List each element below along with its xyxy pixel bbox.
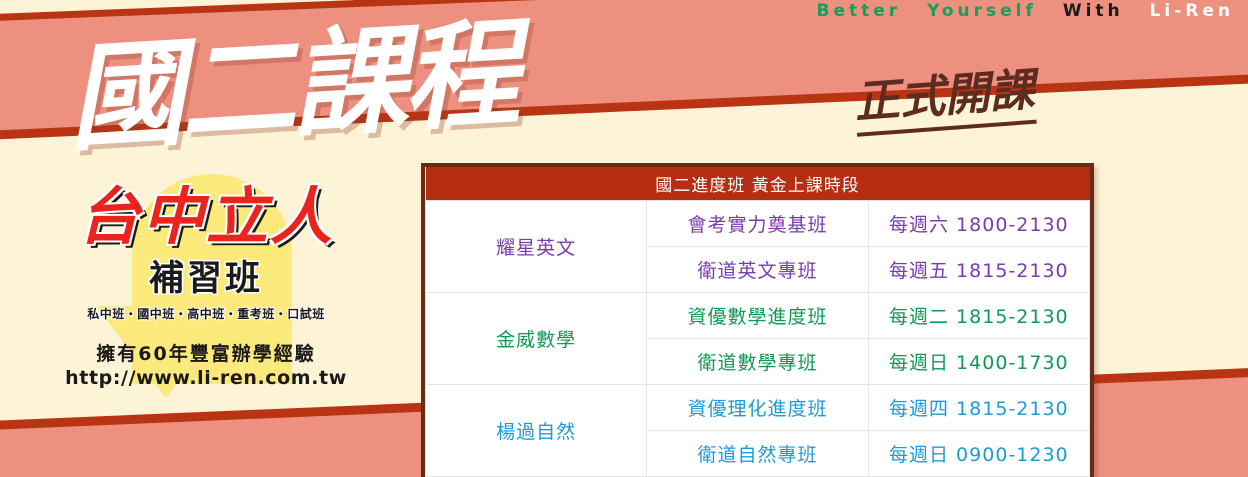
table-row: 金威數學資優數學進度班每週二 1815-2130 (426, 293, 1090, 339)
page-subtitle: 正式開課 (852, 53, 1037, 137)
cell-course-name: 衛道數學專班 (647, 339, 868, 385)
school-logo: 台中立人 補習班 私中班・國中班・高中班・重考班・口試班 擁有60年豐富辦學經驗… (36, 186, 376, 389)
logo-website-url[interactable]: http://www.li-ren.com.tw (36, 367, 376, 389)
schedule-table-body: 耀星英文會考實力奠基班每週六 1800-2130衛道英文專班每週五 1815-2… (426, 201, 1090, 477)
cell-subject: 耀星英文 (426, 201, 647, 293)
table-row: 耀星英文會考實力奠基班每週六 1800-2130 (426, 201, 1090, 247)
cell-class-time: 每週二 1815-2130 (868, 293, 1089, 339)
cell-course-name: 會考實力奠基班 (647, 201, 868, 247)
cell-course-name: 衛道英文專班 (647, 247, 868, 293)
tagline-word-liren: Li-Ren (1150, 1, 1234, 21)
logo-course-list: 私中班・國中班・高中班・重考班・口試班 (36, 305, 376, 322)
cell-course-name: 衛道自然專班 (647, 431, 868, 477)
cell-subject: 金威數學 (426, 293, 647, 385)
table-header-title: 國二進度班 黃金上課時段 (426, 167, 1090, 201)
brand-tagline: Better Yourself With Li-Ren (817, 1, 1234, 21)
tagline-word-with: With (1063, 1, 1124, 21)
schedule-table-container: 國二進度班 黃金上課時段 耀星英文會考實力奠基班每週六 1800-2130衛道英… (421, 163, 1094, 477)
cell-class-time: 每週六 1800-2130 (868, 201, 1089, 247)
table-row: 楊過自然資優理化進度班每週四 1815-2130 (426, 385, 1090, 431)
cell-class-time: 每週五 1815-2130 (868, 247, 1089, 293)
logo-name-sub: 補習班 (36, 250, 376, 301)
schedule-table: 國二進度班 黃金上課時段 耀星英文會考實力奠基班每週六 1800-2130衛道英… (425, 167, 1090, 477)
logo-experience-text: 擁有60年豐富辦學經驗 (36, 339, 376, 366)
tagline-word-yourself: Yourself (927, 1, 1037, 21)
cell-course-name: 資優數學進度班 (647, 293, 868, 339)
cell-class-time: 每週日 1400-1730 (868, 339, 1089, 385)
table-header-row: 國二進度班 黃金上課時段 (426, 167, 1090, 201)
logo-name-main: 台中立人 (36, 186, 376, 248)
tagline-word-better: Better (817, 1, 902, 21)
cell-subject: 楊過自然 (426, 385, 647, 477)
page-title: 國二課程 (62, 0, 519, 174)
promo-banner: Better Yourself With Li-Ren 國二課程 正式開課 台中… (0, 0, 1248, 477)
cell-class-time: 每週日 0900-1230 (868, 431, 1089, 477)
cell-class-time: 每週四 1815-2130 (868, 385, 1089, 431)
cell-course-name: 資優理化進度班 (647, 385, 868, 431)
